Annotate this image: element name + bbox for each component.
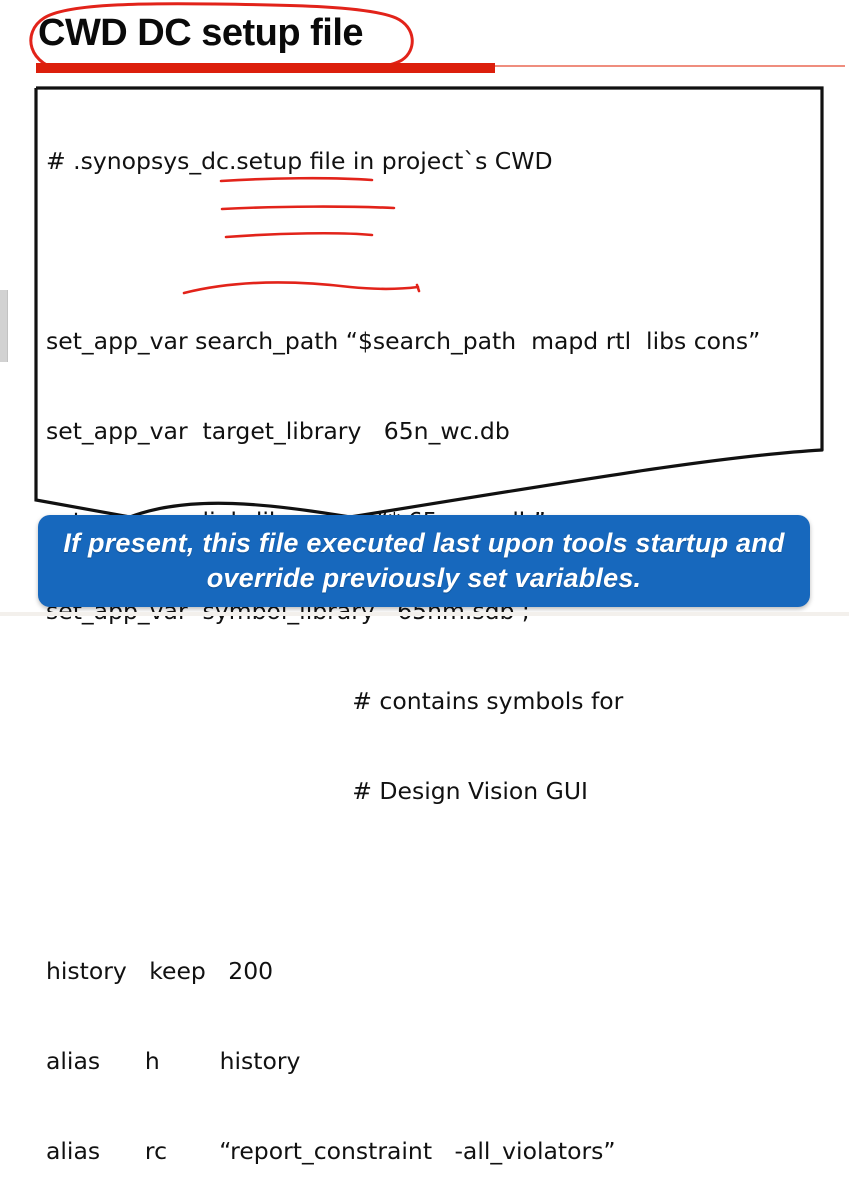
- code-line: # contains symbols for: [46, 686, 836, 716]
- summary-banner: If present, this file executed last upon…: [38, 515, 810, 607]
- code-line: history keep 200: [46, 956, 836, 986]
- code-line: alias h history: [46, 1046, 836, 1076]
- scrollbar-thumb-fragment[interactable]: [0, 290, 8, 362]
- code-line: [46, 866, 836, 896]
- code-line: set_app_var search_path “$search_path ma…: [46, 326, 836, 356]
- code-listing: # .synopsys_dc.setup file in project`s C…: [46, 86, 836, 1196]
- title-accent-bar: [36, 63, 495, 73]
- code-line: # .synopsys_dc.setup file in project`s C…: [46, 146, 836, 176]
- code-line: # Design Vision GUI: [46, 776, 836, 806]
- summary-banner-text: If present, this file executed last upon…: [38, 526, 810, 596]
- code-line: alias rc “report_constraint -all_violato…: [46, 1136, 836, 1166]
- page-bottom-edge: [0, 612, 849, 616]
- title-accent-line: [495, 65, 845, 67]
- page-title: CWD DC setup file: [38, 12, 363, 55]
- code-line: set_app_var target_library 65n_wc.db: [46, 416, 836, 446]
- code-line: [46, 236, 836, 266]
